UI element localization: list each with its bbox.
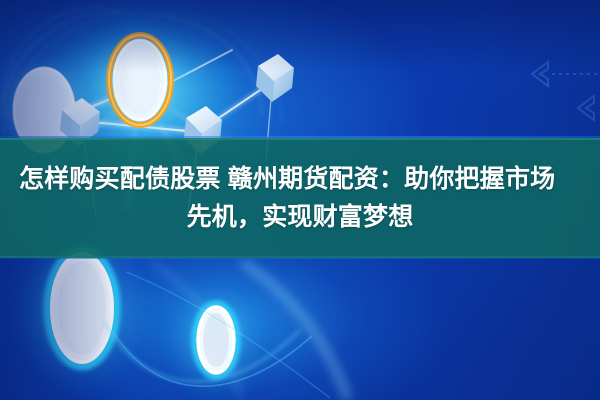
headline-block: 怎样购买配债股票 赣州期货配资：助你把握市场 先机，实现财富梦想 (0, 138, 600, 258)
headline-line-1: 怎样购买配债股票 赣州期货配资：助你把握市场 (14, 160, 555, 198)
headline-line-2: 先机，实现财富梦想 (187, 198, 414, 236)
promo-banner: 怎样购买配债股票 赣州期货配资：助你把握市场 先机，实现财富梦想 (0, 0, 600, 400)
